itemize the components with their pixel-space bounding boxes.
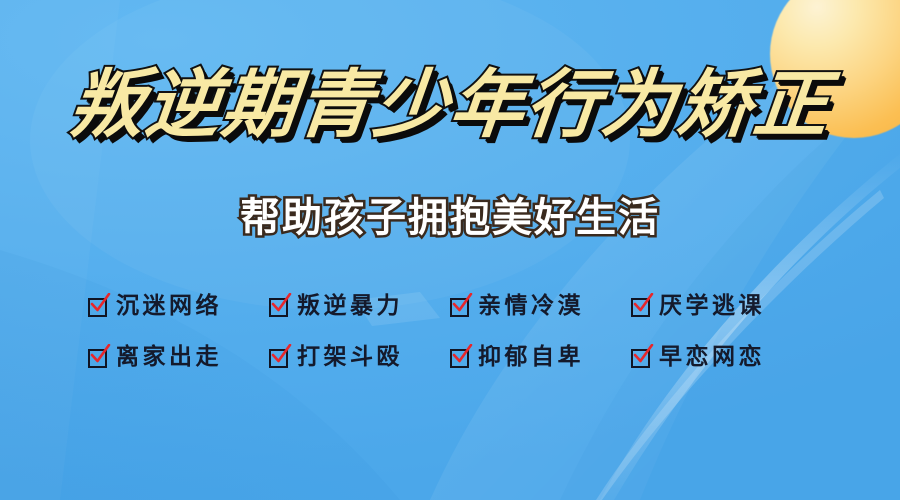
list-item-label: 离家出走 [116,345,222,368]
list-item-label: 叛逆暴力 [297,294,403,317]
checked-checkbox-icon[interactable] [450,347,471,368]
checked-checkbox-icon[interactable] [631,296,652,317]
list-item[interactable]: 打架斗殴 [269,345,450,368]
subtitle-text: 帮助孩子拥抱美好生活 [240,198,660,238]
list-item[interactable]: 厌学逃课 [631,294,812,317]
list-item-label: 抑郁自卑 [478,345,584,368]
checked-checkbox-icon[interactable] [450,296,471,317]
list-item-label: 早恋网恋 [659,345,765,368]
list-item-label: 亲情冷漠 [478,294,584,317]
main-title-text: 叛逆期青少年行为矫正 [66,68,834,142]
checked-checkbox-icon[interactable] [88,347,109,368]
list-item[interactable]: 叛逆暴力 [269,294,450,317]
page-title: 叛逆期青少年行为矫正 [0,68,900,142]
list-item[interactable]: 亲情冷漠 [450,294,631,317]
list-item[interactable]: 抑郁自卑 [450,345,631,368]
list-item-label: 厌学逃课 [659,294,765,317]
list-item[interactable]: 早恋网恋 [631,345,812,368]
page-subtitle: 帮助孩子拥抱美好生活 [0,198,900,238]
list-item-label: 打架斗殴 [297,345,403,368]
checked-checkbox-icon[interactable] [631,347,652,368]
promotional-banner: 叛逆期青少年行为矫正 帮助孩子拥抱美好生活 沉迷网络 叛逆暴力 亲情 [0,0,900,500]
list-item[interactable]: 沉迷网络 [88,294,269,317]
checked-checkbox-icon[interactable] [269,347,290,368]
checked-checkbox-icon[interactable] [269,296,290,317]
checked-checkbox-icon[interactable] [88,296,109,317]
list-item-label: 沉迷网络 [116,294,222,317]
issues-checklist: 沉迷网络 叛逆暴力 亲情冷漠 厌学逃课 [88,294,812,368]
list-item[interactable]: 离家出走 [88,345,269,368]
